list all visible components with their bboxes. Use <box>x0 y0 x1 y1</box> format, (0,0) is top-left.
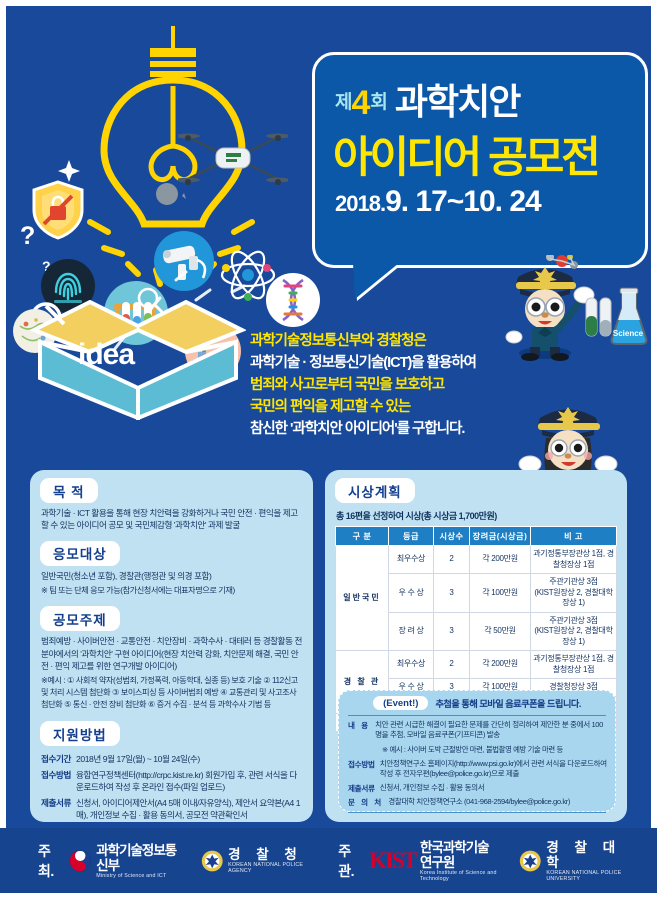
section-title-award: 시상계획 <box>335 478 415 503</box>
event-row: 문 의 처 경찰대학 치안정책연구소 (041-968-2594/bylee@p… <box>339 797 615 808</box>
event-row-label: 접수방법 <box>348 759 375 780</box>
kist-logo: KIST <box>369 848 416 874</box>
apply-row-label: 제출서류 <box>41 797 71 822</box>
left-info-panel: 목 적 과학기술 · ICT 활용을 통해 현장 치안력을 강화하거나 국민 안… <box>30 470 313 822</box>
footer-org-name-ko: 경 찰 청 <box>228 847 308 862</box>
footer-org-name-ko: 경 찰 대 학 <box>546 840 635 870</box>
cell-prize: 각 200만원 <box>470 651 531 679</box>
cell-grade: 최우수상 <box>389 546 434 574</box>
footer-org-knpa: 경 찰 청 KOREAN NATIONAL POLICE AGENCY <box>201 847 309 875</box>
title-prefix: 제 <box>335 92 351 113</box>
event-row-value: 경찰대학 치안정책연구소 (041-968-2594/bylee@police.… <box>388 797 570 808</box>
table-row: 경 찰 관 최우수상 2 각 200만원 과기정통부장관상 1점, 경찰청장상 … <box>336 651 617 679</box>
apply-row-value: 융합연구정책센터(http://crpc.kist.re.kr) 회원가입 후,… <box>76 769 304 794</box>
apply-row: 제출서류 신청서, 아이디어제안서(A4 5매 이내/자유양식), 제안서 요약… <box>30 797 313 822</box>
table-row: 일반국민 최우수상 2 각 200만원 과기정통부장관상 1점, 경찰청장상 1… <box>336 546 617 574</box>
science-flask-icon: Science <box>582 276 648 356</box>
cell-count: 2 <box>434 546 470 574</box>
apply-row-value: 2018년 9월 17일(월) ~ 10월 24일(수) <box>76 753 200 765</box>
cell-count: 2 <box>434 651 470 679</box>
idea-box-icon <box>30 300 246 420</box>
event-row-value: 치안정책연구소 홈페이지(http://www.psi.go.kr)에서 관련 … <box>380 759 607 780</box>
footer-org-name-en: KOREAN NATIONAL POLICE UNIVERSITY <box>546 870 635 882</box>
footer-org-msit: 과학기술정보통신부 Ministry of Science and ICT <box>69 843 179 879</box>
title-line-2: 아이디어 공모전 <box>333 123 598 185</box>
event-row: 내 용 치안 관련 시급한 해결이 필요한 문제를 간단히 정리하여 제안한 분… <box>339 720 615 741</box>
topic-note: ※예시 : ① 사회적 약자(성범죄, 가정폭력, 아동학대, 실종 등) 보호… <box>30 675 313 711</box>
event-box: (Event!) 추첨을 통해 모바일 음료쿠폰을 드립니다. 내 용 치안 관… <box>338 690 616 812</box>
apply-row-label: 접수기간 <box>41 753 71 765</box>
cell-grade: 최우수상 <box>389 651 434 679</box>
event-headline: 추첨을 통해 모바일 음료쿠폰을 드립니다. <box>435 696 580 710</box>
event-row: 제출서류 신청서, 개인정보 수집 · 활용 동의서 <box>339 783 615 794</box>
svg-text:Science: Science <box>613 329 644 338</box>
cell-prize: 각 100만원 <box>470 574 531 613</box>
footer-org-name-en: Ministry of Science and ICT <box>96 873 178 879</box>
cell-grade: 장 려 상 <box>389 612 434 651</box>
section-title-topic: 공모주제 <box>40 606 120 631</box>
title-year: 2018. <box>335 191 385 216</box>
cell-division: 일반국민 <box>336 546 389 651</box>
cell-prize: 각 200만원 <box>470 546 531 574</box>
cell-remark: 주관기관상 3점 (KIST원장상 2, 경찰대학장상 1) <box>531 574 617 613</box>
poster-root: ? ? <box>0 0 657 899</box>
cell-grade: 우 수 상 <box>389 574 434 613</box>
event-row-label: 제출서류 <box>348 783 375 794</box>
description-line: 범죄와 사고로부터 국민을 보호하고 <box>250 374 570 396</box>
event-row: 접수방법 치안정책연구소 홈페이지(http://www.psi.go.kr)에… <box>339 759 615 780</box>
title-period: 9. 17~10. 24 <box>385 185 541 218</box>
award-table-header-row: 구 분 등급 시상수 장려금(시상금) 비 고 <box>336 527 617 546</box>
column-header-prize: 장려금(시상금) <box>470 527 531 546</box>
topic-body: 범죄예방 · 사이버안전 · 교통안전 · 치안장비 · 과학수사 · 대테러 … <box>30 635 313 672</box>
title-date: 2018.9. 17~10. 24 <box>335 185 541 219</box>
description-line: 과학기술정보통신부와 경찰청은 <box>250 330 570 352</box>
cell-remark: 과기정통부장관상 1점, 경찰청장상 1점 <box>531 651 617 679</box>
cell-count: 3 <box>434 612 470 651</box>
event-header: (Event!) 추첨을 통해 모바일 음료쿠폰을 드립니다. <box>339 696 615 710</box>
police-emblem-icon <box>201 847 223 875</box>
eligibility-body: 일반국민(청소년 포함), 경찰관(행정관 및 의경 포함) <box>30 570 313 582</box>
description-line: 국민의 편익을 제고할 수 있는 <box>250 396 570 418</box>
eligibility-note: ※ 팀 또는 단체 응모 가능(참가신청서에는 대표자명으로 기재) <box>30 585 313 597</box>
cell-count: 3 <box>434 574 470 613</box>
description-line: 참신한 '과학치안 아이디어'를 구합니다. <box>250 418 570 440</box>
footer-org-kist: KIST 한국과학기술연구원 Korea Institute of Scienc… <box>369 840 497 882</box>
cell-remark: 과기정통부장관상 1점, 경찰청장상 1점 <box>531 546 617 574</box>
idea-box-label: idea <box>78 338 134 372</box>
section-title-eligibility: 응모대상 <box>40 541 120 566</box>
event-divider-top <box>348 715 606 716</box>
event-row-label: 내 용 <box>348 720 370 741</box>
footer-host-label: 주최. <box>38 841 61 881</box>
footer-org-name-ko: 과학기술정보통신부 <box>96 843 178 873</box>
illustration-area: ? ? <box>0 0 657 470</box>
footer-sponsor-label: 주관. <box>338 841 361 881</box>
award-intro: 총 16편을 선정하여 시상(총 시상금 1,700만원) <box>326 509 627 522</box>
column-header-grade: 등급 <box>389 527 434 546</box>
event-row-value: 치안 관련 시급한 해결이 필요한 문제를 간단히 정리하여 제안한 분 중에서… <box>375 720 607 741</box>
police-emblem-icon <box>519 847 541 875</box>
apply-row-label: 접수방법 <box>41 769 71 794</box>
column-header-division: 구 분 <box>336 527 389 546</box>
apply-row: 접수기간 2018년 9월 17일(월) ~ 10월 24일(수) <box>30 753 313 765</box>
event-divider-bottom <box>348 812 606 813</box>
column-header-remark: 비 고 <box>531 527 617 546</box>
event-row-label: 문 의 처 <box>348 797 383 808</box>
description-block: 과학기술정보통신부와 경찰청은 과학기술 · 정보통신기술(ICT)을 활용하여… <box>250 330 570 440</box>
title-line-1: 제4회과학치안 <box>335 73 635 125</box>
cell-prize: 각 50만원 <box>470 612 531 651</box>
section-title-purpose: 목 적 <box>40 478 98 503</box>
title-speech-bubble: 제4회과학치안 아이디어 공모전 2018.9. 17~10. 24 <box>312 52 648 268</box>
footer-org-name-ko: 한국과학기술연구원 <box>420 840 497 870</box>
purpose-body: 과학기술 · ICT 활용을 통해 현장 치안력을 강화하거나 국민 안전 · … <box>30 507 313 532</box>
title-edition-number: 4 <box>351 84 370 122</box>
description-line: 과학기술 · 정보통신기술(ICT)을 활용하여 <box>250 352 570 374</box>
column-header-count: 시상수 <box>434 527 470 546</box>
event-note: ※ 예시 : 사이버 도박 근절방안 마련, 불법촬영 예방 기술 마련 등 <box>339 744 615 755</box>
footer-bar: 주최. 과학기술정보통신부 Ministry of Science and IC… <box>0 828 657 893</box>
title-suffix: 회 <box>370 92 386 113</box>
cell-remark: 주관기관상 3점 (KIST원장상 2, 경찰대학장상 1) <box>531 612 617 651</box>
title-main: 과학치안 <box>395 81 519 122</box>
section-title-apply: 지원방법 <box>40 721 120 746</box>
taegeuk-icon <box>69 847 91 875</box>
apply-row-value: 신청서, 아이디어제안서(A4 5매 이내/자유양식), 제안서 요약본(A4 … <box>76 797 304 822</box>
event-badge: (Event!) <box>373 696 428 710</box>
footer-org-name-en: KOREAN NATIONAL POLICE AGENCY <box>228 862 308 874</box>
event-row-value: 신청서, 개인정보 수집 · 활용 동의서 <box>380 783 485 794</box>
footer-org-name-en: Korea Institute of Science and Technolog… <box>420 870 497 882</box>
footer-org-knpu: 경 찰 대 학 KOREAN NATIONAL POLICE UNIVERSIT… <box>519 840 635 882</box>
apply-row: 접수방법 융합연구정책센터(http://crpc.kist.re.kr) 회원… <box>30 769 313 794</box>
